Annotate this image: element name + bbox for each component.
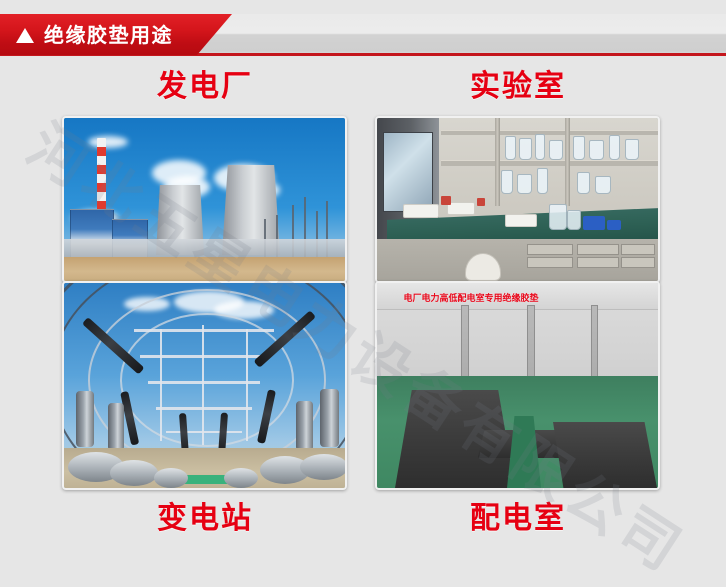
glassware-shape bbox=[535, 134, 545, 160]
ground-shape bbox=[64, 257, 345, 281]
glassware-shape bbox=[573, 136, 585, 160]
gallery-grid: 发电厂 实验室 bbox=[0, 56, 726, 587]
glassware-shape bbox=[519, 138, 532, 160]
shelf-post-shape bbox=[565, 118, 570, 206]
drawer-shape bbox=[621, 244, 655, 255]
caption-power-plant: 发电厂 bbox=[62, 66, 348, 108]
lattice-beam-shape bbox=[148, 381, 260, 384]
drawer-shape bbox=[527, 244, 573, 255]
caption-substation: 变电站 bbox=[62, 498, 348, 540]
caption-distribution-room: 配电室 bbox=[375, 498, 661, 540]
lattice-beam-shape bbox=[156, 407, 252, 410]
gallery-item-substation: 变电站 bbox=[62, 281, 348, 540]
insulating-mat-shape bbox=[553, 422, 657, 488]
drawer-shape bbox=[527, 257, 573, 268]
insulator-shape bbox=[108, 403, 124, 451]
tray-shape bbox=[447, 202, 475, 215]
insulator-shape bbox=[320, 389, 339, 447]
glassware-shape bbox=[505, 136, 516, 160]
header-content: 绝缘胶垫用途 bbox=[0, 14, 232, 55]
transformer-tank-shape bbox=[224, 468, 258, 488]
gallery-item-distribution-room: 电厂电力高低配电室专用绝缘胶垫 配电室 bbox=[375, 281, 661, 540]
gallery-item-power-plant: 发电厂 bbox=[62, 66, 348, 283]
glassware-shape bbox=[625, 139, 639, 160]
glassware-shape bbox=[609, 135, 620, 160]
lattice-beam-shape bbox=[166, 431, 242, 433]
substation-photo[interactable] bbox=[62, 281, 347, 490]
triangle-up-icon bbox=[16, 28, 34, 43]
glassware-shape bbox=[517, 174, 532, 194]
caption-laboratory: 实验室 bbox=[375, 66, 661, 108]
glassware-shape bbox=[567, 210, 581, 230]
transformer-tank-shape bbox=[300, 454, 347, 480]
tray-shape bbox=[505, 214, 537, 227]
insulator-shape bbox=[296, 401, 313, 451]
cloud-shape bbox=[88, 136, 128, 148]
page-root: { "page": { "background_color": "#e6e6e6… bbox=[0, 0, 726, 587]
glassware-shape bbox=[549, 140, 563, 160]
red-item-shape bbox=[441, 196, 451, 205]
lattice-post-shape bbox=[160, 329, 162, 441]
shelf-shape bbox=[441, 160, 658, 166]
lattice-beam-shape bbox=[134, 329, 274, 332]
overlay-label-distribution-room: 电厂电力高低配电室专用绝缘胶垫 bbox=[395, 291, 547, 304]
shelf-shape bbox=[441, 130, 658, 135]
blue-container-shape bbox=[583, 216, 605, 230]
blue-container-shape bbox=[607, 220, 621, 230]
page-header: 绝缘胶垫用途 bbox=[0, 14, 726, 56]
page-title: 绝缘胶垫用途 bbox=[44, 25, 173, 45]
laboratory-photo[interactable] bbox=[375, 116, 660, 283]
tray-shape bbox=[403, 204, 439, 218]
shelf-post-shape bbox=[495, 118, 500, 206]
glassware-shape bbox=[595, 176, 611, 194]
transformer-tank-shape bbox=[154, 468, 188, 488]
drawer-shape bbox=[577, 244, 619, 255]
distribution-room-photo[interactable]: 电厂电力高低配电室专用绝缘胶垫 bbox=[375, 281, 660, 490]
red-item-shape bbox=[477, 198, 485, 206]
glassware-shape bbox=[589, 140, 604, 160]
lattice-post-shape bbox=[202, 325, 204, 445]
glassware-shape bbox=[537, 168, 548, 194]
transformer-tank-shape bbox=[110, 460, 158, 486]
gallery-item-laboratory: 实验室 bbox=[375, 66, 661, 283]
fume-hood-glass-shape bbox=[383, 132, 433, 212]
glassware-shape bbox=[577, 172, 590, 194]
power-plant-photo[interactable] bbox=[62, 116, 347, 283]
glassware-shape bbox=[501, 170, 513, 194]
glassware-shape bbox=[549, 204, 567, 230]
drawer-shape bbox=[577, 257, 619, 268]
drawer-shape bbox=[621, 257, 655, 268]
lattice-post-shape bbox=[246, 329, 248, 441]
insulator-shape bbox=[76, 391, 94, 447]
